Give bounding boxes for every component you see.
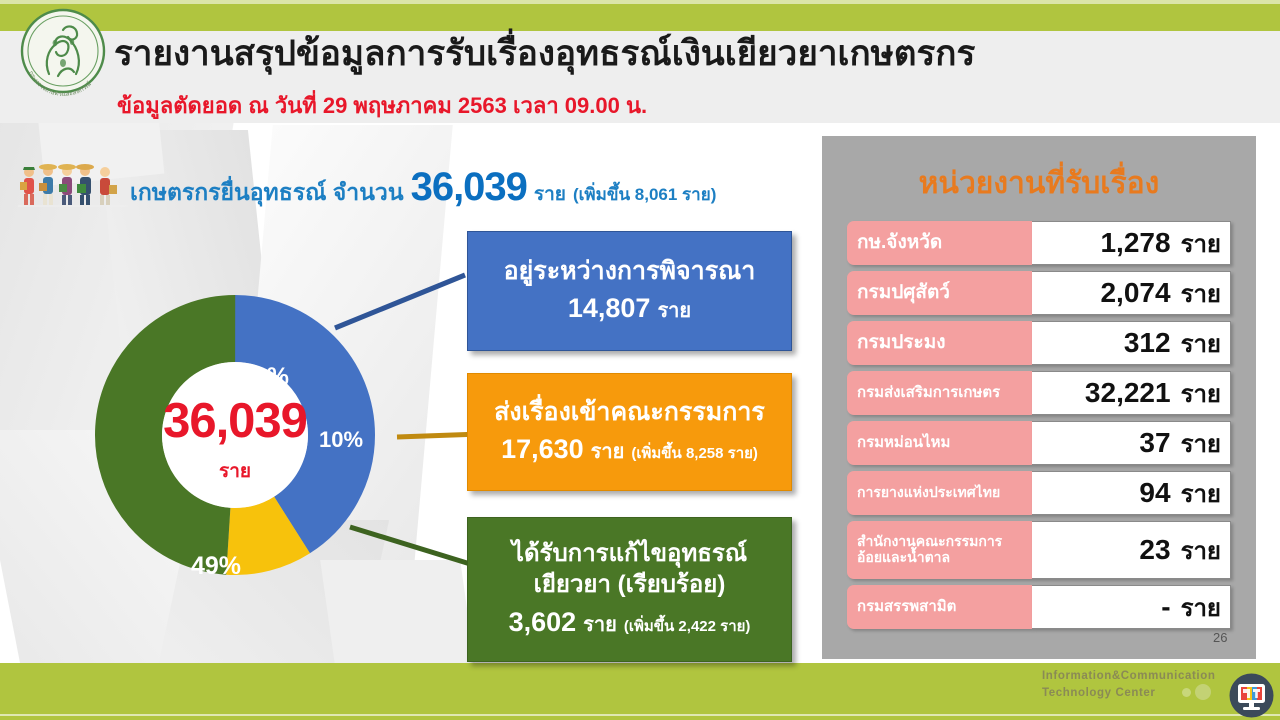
- table-row-unit: ราย: [1181, 324, 1221, 363]
- table-row-value-cell: 37 ราย: [1032, 421, 1231, 465]
- table-row-value: 2,074: [1100, 277, 1170, 309]
- table-row-name: สำนักงานคณะกรรมการ อ้อยและน้ำตาล: [847, 521, 1032, 579]
- table-row[interactable]: กรมส่งเสริมการเกษตร 32,221 ราย: [847, 371, 1231, 415]
- table-row-unit: ราย: [1181, 531, 1221, 570]
- table-row-value-cell: 23 ราย: [1032, 521, 1231, 579]
- table-row-name: กรมประมง: [847, 321, 1032, 365]
- callout-committee-delta: (เพิ่มขึ้น 8,258 ราย): [631, 441, 758, 465]
- table-row-name: กรมส่งเสริมการเกษตร: [847, 371, 1032, 415]
- footer-text: Information&Communication Technology Cen…: [1042, 668, 1215, 701]
- page-subtitle: ข้อมูลตัดยอด ณ วันที่ 29 พฤษภาคม 2563 เว…: [117, 88, 647, 123]
- table-row-value: 1,278: [1100, 227, 1170, 259]
- donut-center-number: 36,039: [60, 393, 410, 449]
- table-row-name: กษ.จังหวัด: [847, 221, 1032, 265]
- agency-panel-title: หน่วยงานที่รับเรื่อง: [822, 160, 1256, 207]
- table-row-name-line2: อ้อยและน้ำตาล: [857, 550, 950, 566]
- table-row[interactable]: กรมหม่อนไหม 37 ราย: [847, 421, 1231, 465]
- table-row-value: 32,221: [1085, 377, 1171, 409]
- donut-chart: 41% 10% 49% 36,039 ราย: [60, 260, 410, 610]
- callout-committee-title: ส่งเรื่องเข้าคณะกรรมการ: [494, 397, 765, 428]
- footer-dot-small: [1182, 688, 1191, 697]
- table-row-value-cell: 94 ราย: [1032, 471, 1231, 515]
- table-row-value: 94: [1139, 477, 1170, 509]
- callout-resolved[interactable]: ได้รับการแก้ไขอุทธรณ์ เยียวยา (เรียบร้อย…: [467, 517, 792, 662]
- table-row-name: กรมสรรพสามิต: [847, 585, 1032, 629]
- table-row-value: 37: [1139, 427, 1170, 459]
- callout-resolved-number: 3,602: [509, 607, 577, 638]
- ministry-emblem-icon: กระทรวงเกษตรและสหกรณ์: [14, 6, 112, 104]
- farmers-illustration-icon: [18, 158, 128, 212]
- table-row-unit: ราย: [1181, 274, 1221, 313]
- table-row-value-cell: 2,074 ราย: [1032, 271, 1231, 315]
- table-row-value-cell: 32,221 ราย: [1032, 371, 1231, 415]
- table-row-name: กรมปศุสัตว์: [847, 271, 1032, 315]
- table-row-name: การยางแห่งประเทศไทย: [847, 471, 1032, 515]
- table-row[interactable]: การยางแห่งประเทศไทย 94 ราย: [847, 471, 1231, 515]
- footer-line-1: Information&Communication: [1042, 668, 1215, 685]
- headline-label: เกษตรกรยื่นอุทธรณ์ จำนวน: [130, 175, 404, 211]
- headline-number: 36,039: [411, 165, 527, 210]
- table-row-value: 312: [1124, 327, 1171, 359]
- table-row-value: 23: [1139, 534, 1170, 566]
- callout-pending[interactable]: อยู่ระหว่างการพิจารณา 14,807 ราย: [467, 231, 792, 351]
- footer-dot-large: [1195, 684, 1211, 700]
- donut-label-49: 49%: [191, 552, 241, 580]
- callout-pending-unit: ราย: [657, 294, 691, 326]
- table-row-unit: ราย: [1181, 424, 1221, 463]
- slide-root: กระทรวงเกษตรและสหกรณ์ รายงานสรุปข้อมูลกา…: [0, 0, 1280, 720]
- table-row[interactable]: กรมปศุสัตว์ 2,074 ราย: [847, 271, 1231, 315]
- table-row[interactable]: กรมประมง 312 ราย: [847, 321, 1231, 365]
- headline-stat: เกษตรกรยื่นอุทธรณ์ จำนวน 36,039 ราย (เพิ…: [130, 165, 716, 211]
- table-row[interactable]: กรมสรรพสามิต - ราย: [847, 585, 1231, 629]
- table-row-unit: ราย: [1181, 474, 1221, 513]
- callout-committee[interactable]: ส่งเรื่องเข้าคณะกรรมการ 17,630 ราย (เพิ่…: [467, 373, 792, 491]
- callout-pending-number: 14,807: [568, 293, 651, 324]
- headline-unit: ราย: [534, 179, 566, 209]
- donut-center-unit: ราย: [60, 456, 410, 486]
- table-row[interactable]: กษ.จังหวัด 1,278 ราย: [847, 221, 1231, 265]
- callout-committee-unit: ราย: [591, 435, 625, 467]
- ict-monitor-logo-icon: [1229, 673, 1274, 718]
- table-row-unit: ราย: [1181, 374, 1221, 413]
- table-row-value: -: [1161, 591, 1170, 623]
- table-row-name: กรมหม่อนไหม: [847, 421, 1032, 465]
- headline-delta: (เพิ่มขึ้น 8,061 ราย): [573, 181, 716, 208]
- callout-resolved-delta: (เพิ่มขึ้น 2,422 ราย): [624, 614, 751, 638]
- table-row-value-cell: 312 ราย: [1032, 321, 1231, 365]
- agency-table: กษ.จังหวัด 1,278 ราย กรมปศุสัตว์ 2,074 ร…: [847, 221, 1231, 635]
- callout-resolved-title-line2: เยียวยา (เรียบร้อย): [534, 570, 726, 601]
- callout-resolved-unit: ราย: [583, 608, 617, 640]
- table-row[interactable]: สำนักงานคณะกรรมการ อ้อยและน้ำตาล 23 ราย: [847, 521, 1231, 579]
- donut-label-41: 41%: [239, 363, 289, 391]
- table-row-value-cell: 1,278 ราย: [1032, 221, 1231, 265]
- callout-resolved-title-line1: ได้รับการแก้ไขอุทธรณ์: [512, 539, 747, 570]
- page-number: 26: [1213, 630, 1227, 645]
- table-row-unit: ราย: [1181, 224, 1221, 263]
- callout-committee-number: 17,630: [501, 434, 584, 465]
- table-row-value-cell: - ราย: [1032, 585, 1231, 629]
- callout-pending-title: อยู่ระหว่างการพิจารณา: [504, 256, 756, 287]
- table-row-unit: ราย: [1181, 588, 1221, 627]
- page-title: รายงานสรุปข้อมูลการรับเรื่องอุทธรณ์เงินเ…: [114, 26, 975, 81]
- table-row-name-line1: สำนักงานคณะกรรมการ: [857, 534, 1002, 550]
